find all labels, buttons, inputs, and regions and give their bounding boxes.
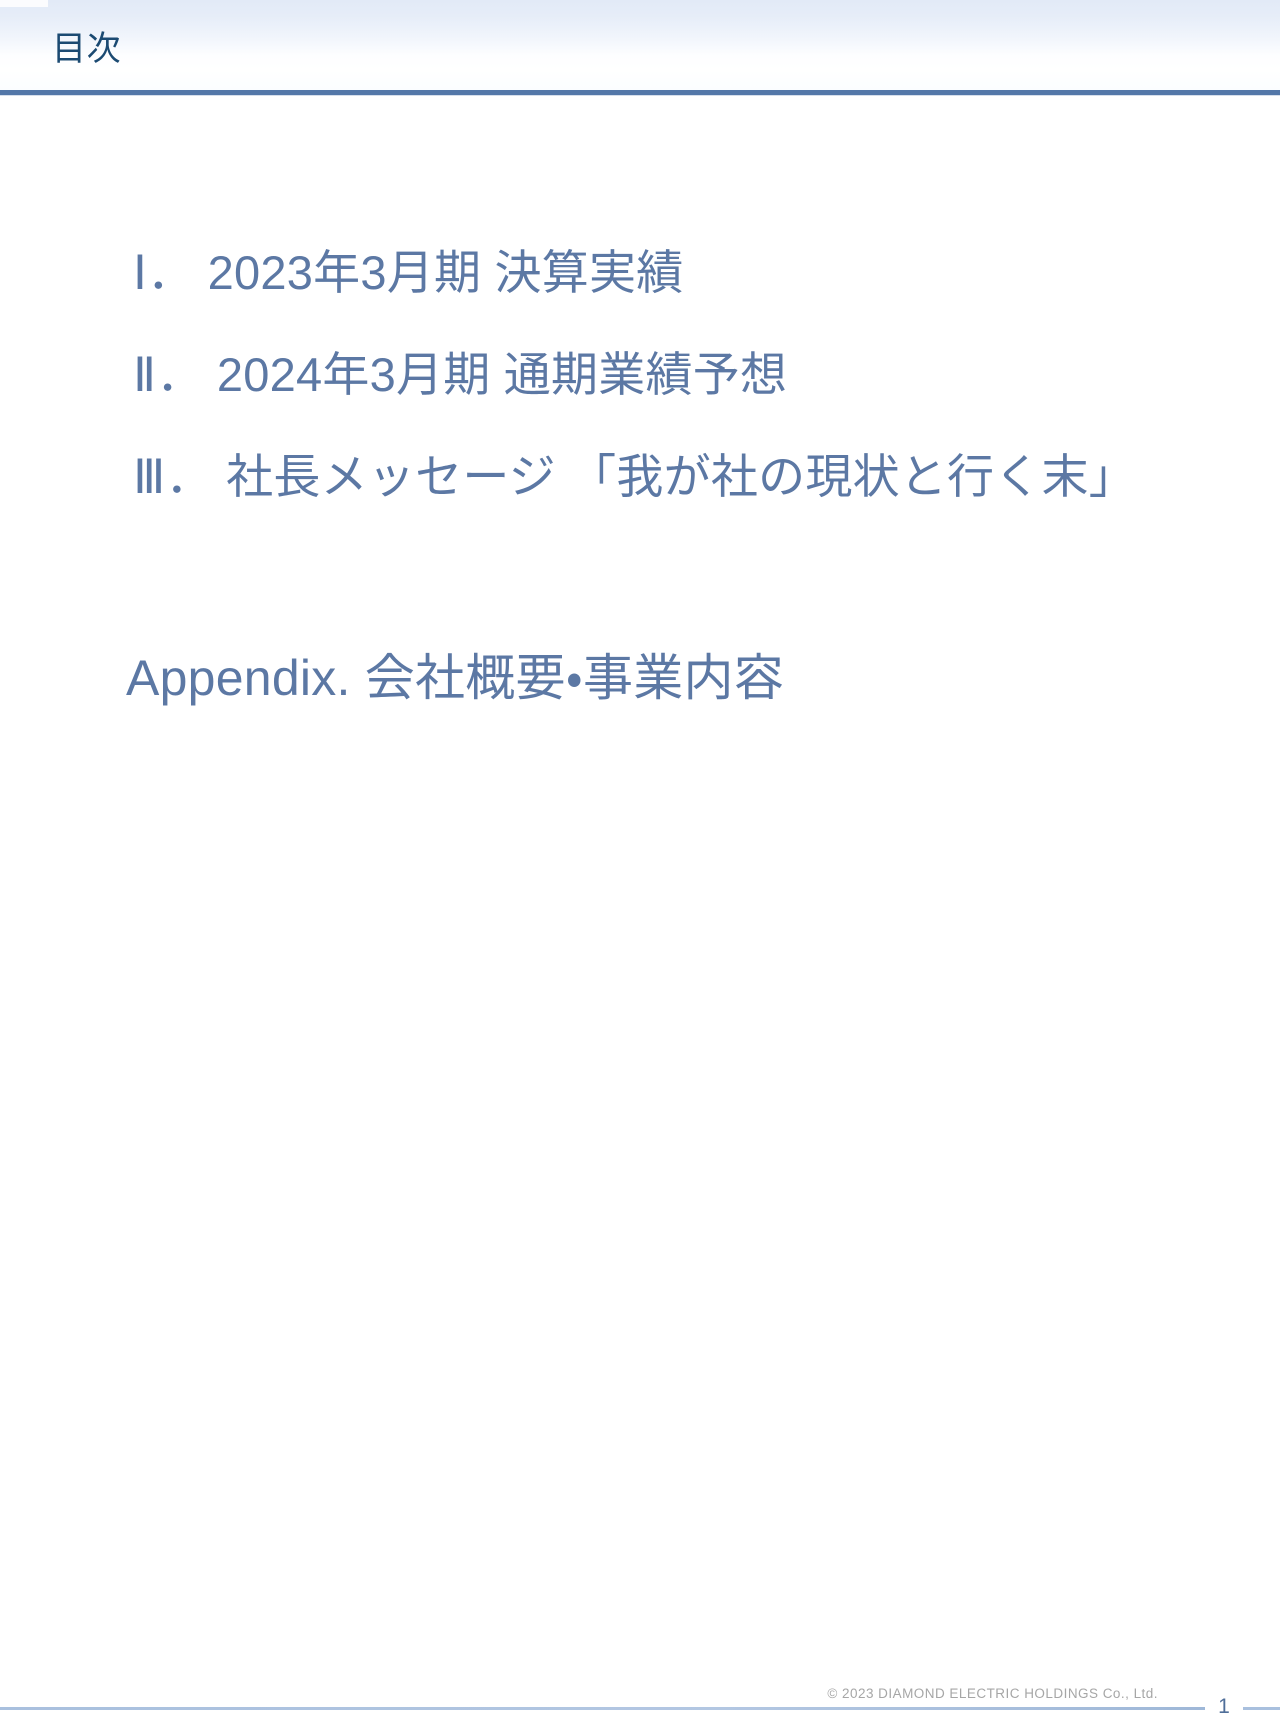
toc-entry-1-number: Ⅰ． xyxy=(133,244,194,302)
slide-footer: © 2023 DIAMOND ELECTRIC HOLDINGS Co., Lt… xyxy=(0,836,1280,886)
footer-divider xyxy=(0,1707,1205,1710)
toc-entry-3-number: Ⅲ． xyxy=(133,448,213,506)
copyright-notice: © 2023 DIAMOND ELECTRIC HOLDINGS Co., Lt… xyxy=(827,1686,1158,1702)
page-number: 1 xyxy=(1205,1693,1243,1721)
toc-entry-appendix-number: Appendix. xyxy=(126,647,351,709)
toc-entry-appendix[interactable]: Appendix. 会社概要・事業内容 xyxy=(126,647,784,709)
toc-entry-appendix-label: 会社概要・事業内容 xyxy=(351,650,784,706)
slide-root: 目次 Ⅰ． 2023年3月期 決算実績 Ⅱ． 2024年3月期 通期業績予想 Ⅲ… xyxy=(0,0,1280,886)
toc-entry-2-label: 2024年3月期 通期業績予想 xyxy=(204,348,788,401)
toc-entry-3[interactable]: Ⅲ． 社長メッセージ 「我が社の現状と行く末」 xyxy=(133,448,1136,506)
slide-header: 目次 xyxy=(0,0,1280,90)
footer-divider-right xyxy=(1243,1707,1280,1710)
toc-entry-3-label: 社長メッセージ 「我が社の現状と行く末」 xyxy=(213,450,1136,503)
toc-entry-2-number: Ⅱ． xyxy=(133,346,204,404)
toc-entry-1-label: 2023年3月期 決算実績 xyxy=(194,246,683,299)
page-title: 目次 xyxy=(52,26,121,72)
toc-entry-2[interactable]: Ⅱ． 2024年3月期 通期業績予想 xyxy=(133,346,787,404)
header-corner-accent xyxy=(0,0,48,7)
toc-entry-1[interactable]: Ⅰ． 2023年3月期 決算実績 xyxy=(133,244,683,302)
table-of-contents: Ⅰ． 2023年3月期 決算実績 Ⅱ． 2024年3月期 通期業績予想 Ⅲ． 社… xyxy=(0,96,1280,836)
